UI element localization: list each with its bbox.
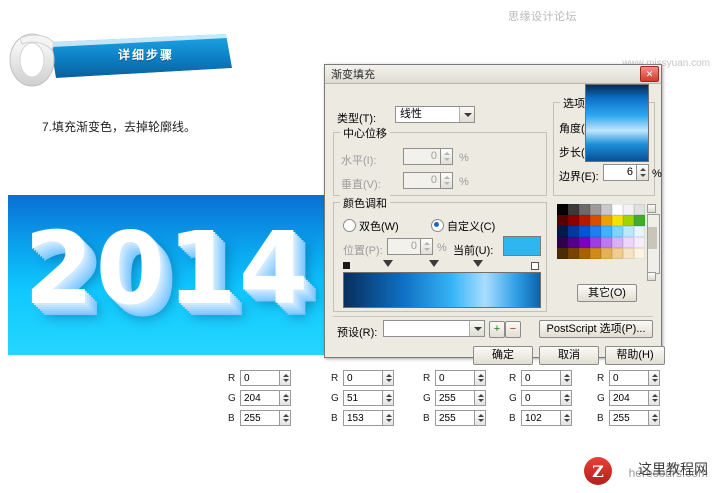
- palette-swatch[interactable]: [579, 204, 590, 215]
- options-title: 选项: [560, 95, 588, 111]
- palette-swatch[interactable]: [634, 204, 645, 215]
- rgb-value-input[interactable]: 0: [240, 370, 280, 386]
- type-select-value: 线性: [400, 108, 422, 120]
- rgb-value-input[interactable]: 204: [240, 390, 280, 406]
- gradient-stop-marker[interactable]: [429, 260, 439, 267]
- rgb-stepper[interactable]: [383, 370, 394, 386]
- position-input[interactable]: 0: [387, 238, 421, 255]
- palette-swatch[interactable]: [601, 204, 612, 215]
- rgb-group: R0G0B102: [509, 370, 572, 430]
- gradient-stop-marker[interactable]: [383, 260, 393, 267]
- palette-swatch[interactable]: [601, 226, 612, 237]
- vertical-stepper[interactable]: [441, 172, 453, 189]
- rgb-channel-label: R: [597, 373, 609, 384]
- rgb-value-input[interactable]: 153: [343, 410, 383, 426]
- preset-label: 预设(R):: [337, 324, 377, 340]
- rgb-row: B102: [509, 410, 572, 426]
- rgb-channel-label: G: [509, 393, 521, 404]
- rgb-row: R0: [331, 370, 394, 386]
- current-color-swatch[interactable]: [503, 236, 541, 256]
- cancel-button[interactable]: 取消: [539, 346, 599, 365]
- rgb-row: R0: [597, 370, 660, 386]
- palette-swatch[interactable]: [557, 237, 568, 248]
- custom-label: 自定义(C): [447, 221, 495, 233]
- rgb-stepper[interactable]: [561, 370, 572, 386]
- palette-swatch[interactable]: [557, 204, 568, 215]
- horizontal-label: 水平(I):: [341, 152, 376, 168]
- radio-dot-icon: [343, 219, 356, 232]
- rgb-group: R0G204B255: [228, 370, 291, 430]
- rgb-stepper[interactable]: [475, 370, 486, 386]
- rgb-stepper[interactable]: [383, 410, 394, 426]
- gradient-stop-marker[interactable]: [473, 260, 483, 267]
- rgb-stepper[interactable]: [280, 370, 291, 386]
- rgb-value-input[interactable]: 0: [521, 370, 561, 386]
- palette-swatch[interactable]: [590, 226, 601, 237]
- rgb-stepper[interactable]: [475, 410, 486, 426]
- palette-swatch[interactable]: [568, 226, 579, 237]
- rgb-row: R0: [509, 370, 572, 386]
- center-offset-title: 中心位移: [340, 125, 390, 141]
- artwork-text: 2014: [24, 209, 310, 329]
- watermark-forum: 思缘设计论坛: [508, 8, 577, 24]
- rgb-row: B153: [331, 410, 394, 426]
- rgb-row: B255: [228, 410, 291, 426]
- step-description: 7.填充渐变色，去掉轮廓线。: [42, 118, 196, 135]
- divider: [333, 316, 653, 317]
- palette-swatch[interactable]: [623, 248, 634, 259]
- palette-swatch[interactable]: [601, 248, 612, 259]
- rgb-channel-label: G: [331, 393, 343, 404]
- gradient-markers[interactable]: [343, 260, 539, 271]
- palette-swatch[interactable]: [590, 237, 601, 248]
- palette-swatch[interactable]: [612, 237, 623, 248]
- rgb-stepper[interactable]: [561, 390, 572, 406]
- artwork-canvas: 2014: [8, 195, 338, 355]
- palette-swatch[interactable]: [623, 204, 634, 215]
- rgb-group: R0G255B255: [423, 370, 486, 430]
- chevron-down-icon[interactable]: [469, 321, 484, 336]
- rgb-row: B255: [597, 410, 660, 426]
- rgb-row: G0: [509, 390, 572, 406]
- palette-swatch[interactable]: [557, 226, 568, 237]
- rgb-channel-label: G: [423, 393, 435, 404]
- edge-label: 边界(E):: [559, 168, 599, 184]
- palette-swatch[interactable]: [601, 237, 612, 248]
- palette-swatch[interactable]: [568, 215, 579, 226]
- rgb-stepper[interactable]: [280, 410, 291, 426]
- rgb-value-input[interactable]: 255: [609, 410, 649, 426]
- vertical-label: 垂直(V):: [341, 176, 381, 192]
- palette-swatch[interactable]: [623, 215, 634, 226]
- horizontal-unit: %: [459, 152, 469, 164]
- rgb-row: G204: [228, 390, 291, 406]
- gradient-end-marker[interactable]: [531, 262, 539, 270]
- edge-unit: %: [652, 168, 662, 180]
- two-color-label: 双色(W): [359, 221, 399, 233]
- palette-swatch[interactable]: [568, 204, 579, 215]
- rgb-channel-label: B: [597, 413, 609, 424]
- palette-swatch[interactable]: [612, 248, 623, 259]
- palette-scroll-up-icon[interactable]: [647, 204, 656, 213]
- position-unit: %: [437, 242, 447, 254]
- rgb-channel-label: R: [331, 373, 343, 384]
- rgb-value-input[interactable]: 0: [521, 390, 561, 406]
- rgb-value-input[interactable]: 0: [435, 370, 475, 386]
- help-button[interactable]: 帮助(H): [605, 346, 665, 365]
- banner-label: 详细步骤: [118, 46, 174, 63]
- rgb-channel-label: B: [509, 413, 521, 424]
- vertical-input[interactable]: 0: [403, 172, 441, 189]
- rgb-stepper[interactable]: [383, 390, 394, 406]
- edge-input[interactable]: 6: [603, 164, 637, 181]
- palette-swatch[interactable]: [634, 226, 645, 237]
- remove-preset-button[interactable]: −: [505, 321, 521, 338]
- gradient-start-marker[interactable]: [343, 262, 350, 269]
- palette-swatch[interactable]: [634, 237, 645, 248]
- rgb-channel-label: G: [228, 393, 240, 404]
- rgb-channel-label: B: [331, 413, 343, 424]
- two-color-radio[interactable]: 双色(W): [343, 218, 399, 234]
- dialog-title: 渐变填充: [331, 66, 640, 82]
- palette-swatch[interactable]: [557, 215, 568, 226]
- preset-select[interactable]: [383, 320, 485, 337]
- edge-stepper[interactable]: [637, 164, 649, 181]
- rgb-row: B255: [423, 410, 486, 426]
- rgb-channel-label: B: [423, 413, 435, 424]
- palette-swatch[interactable]: [590, 204, 601, 215]
- color-blend-title: 颜色调和: [340, 195, 390, 211]
- palette-swatch[interactable]: [568, 248, 579, 259]
- rgb-value-input[interactable]: 255: [240, 410, 280, 426]
- color-palette[interactable]: [557, 204, 645, 259]
- type-select[interactable]: 线性: [395, 106, 475, 123]
- palette-scrollbar[interactable]: [647, 214, 660, 274]
- torn-paper-banner: 详细步骤: [6, 22, 236, 92]
- rgb-group: R0G204B255: [597, 370, 660, 430]
- rgb-row: R0: [228, 370, 291, 386]
- palette-swatch[interactable]: [612, 215, 623, 226]
- palette-swatch[interactable]: [579, 237, 590, 248]
- chevron-down-icon[interactable]: [459, 107, 474, 122]
- palette-swatch[interactable]: [601, 215, 612, 226]
- rgb-value-input[interactable]: 0: [609, 370, 649, 386]
- current-label: 当前(U):: [453, 242, 493, 258]
- gradient-ramp-preview[interactable]: [343, 272, 541, 308]
- rgb-channel-label: B: [228, 413, 240, 424]
- rgb-value-input[interactable]: 204: [609, 390, 649, 406]
- rgb-row: G204: [597, 390, 660, 406]
- palette-swatch[interactable]: [612, 226, 623, 237]
- horizontal-input[interactable]: 0: [403, 148, 441, 165]
- rgb-stepper[interactable]: [280, 390, 291, 406]
- palette-swatch[interactable]: [590, 215, 601, 226]
- vertical-unit: %: [459, 176, 469, 188]
- rgb-row: G255: [423, 390, 486, 406]
- rgb-row: G51: [331, 390, 394, 406]
- palette-swatch[interactable]: [623, 226, 634, 237]
- position-label: 位置(P):: [343, 242, 383, 258]
- custom-radio[interactable]: 自定义(C): [431, 218, 495, 234]
- palette-swatch[interactable]: [590, 248, 601, 259]
- rgb-channel-label: G: [597, 393, 609, 404]
- site-logo-icon: Z: [584, 457, 612, 485]
- gradient-preview-swatch: [585, 84, 649, 162]
- palette-swatch[interactable]: [612, 204, 623, 215]
- ok-button[interactable]: 确定: [473, 346, 533, 365]
- rgb-channel-label: R: [509, 373, 521, 384]
- palette-swatch[interactable]: [568, 237, 579, 248]
- rgb-value-input[interactable]: 0: [343, 370, 383, 386]
- rgb-value-input[interactable]: 255: [435, 390, 475, 406]
- horizontal-stepper[interactable]: [441, 148, 453, 165]
- position-stepper[interactable]: [421, 238, 433, 255]
- palette-swatch[interactable]: [557, 248, 568, 259]
- rgb-value-input[interactable]: 51: [343, 390, 383, 406]
- close-icon[interactable]: ✕: [640, 66, 659, 82]
- rgb-value-input[interactable]: 102: [521, 410, 561, 426]
- palette-swatch[interactable]: [623, 237, 634, 248]
- palette-swatch[interactable]: [634, 248, 645, 259]
- rgb-channel-label: R: [228, 373, 240, 384]
- rgb-channel-label: R: [423, 373, 435, 384]
- palette-scrollbar-thumb[interactable]: [648, 227, 657, 249]
- palette-swatch[interactable]: [579, 248, 590, 259]
- rgb-stepper[interactable]: [649, 370, 660, 386]
- palette-scroll-down-icon[interactable]: [647, 272, 656, 281]
- other-color-button[interactable]: 其它(O): [577, 284, 637, 302]
- postscript-options-button[interactable]: PostScript 选项(P)...: [539, 320, 653, 338]
- rgb-row: R0: [423, 370, 486, 386]
- rgb-group: R0G51B153: [331, 370, 394, 430]
- rgb-value-input[interactable]: 255: [435, 410, 475, 426]
- rgb-stepper[interactable]: [475, 390, 486, 406]
- palette-swatch[interactable]: [579, 215, 590, 226]
- rgb-stepper[interactable]: [649, 410, 660, 426]
- rgb-stepper[interactable]: [649, 390, 660, 406]
- type-label: 类型(T):: [337, 110, 376, 126]
- rgb-stepper[interactable]: [561, 410, 572, 426]
- radio-dot-icon: [431, 219, 444, 232]
- add-preset-button[interactable]: +: [489, 321, 505, 338]
- dialog-titlebar[interactable]: 渐变填充 ✕: [325, 65, 661, 84]
- site-logo-text: 这里教程网: [638, 459, 708, 479]
- palette-swatch[interactable]: [579, 226, 590, 237]
- palette-swatch[interactable]: [634, 215, 645, 226]
